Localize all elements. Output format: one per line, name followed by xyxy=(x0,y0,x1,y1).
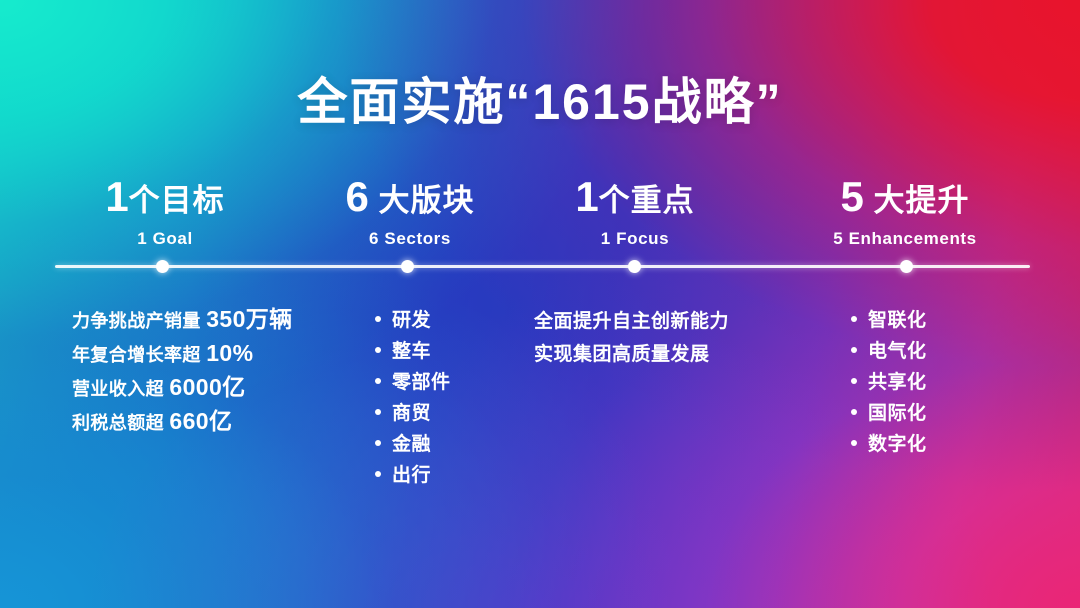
timeline-divider xyxy=(55,265,1030,268)
column-header-2: 6 大版块 6 Sectors xyxy=(290,176,530,249)
list-item: 数字化 xyxy=(851,427,927,458)
page-title: 全面实施“1615战略” xyxy=(0,62,1080,134)
column-header-2-en: 6 Sectors xyxy=(290,229,530,249)
column-header-3-number: 1 xyxy=(575,173,598,220)
column-header-1-cn: 1个目标 xyxy=(40,176,290,218)
timeline-node-2 xyxy=(401,260,414,273)
column-header-3-cn: 1个重点 xyxy=(530,176,740,218)
bullet-icon xyxy=(851,378,857,384)
metric-value: 6000亿 xyxy=(169,374,245,400)
column-header-2-cn: 6 大版块 xyxy=(290,176,530,218)
list-item-label: 金融 xyxy=(392,429,431,456)
column-header-1-number: 1 xyxy=(105,173,128,220)
list-item: 共享化 xyxy=(851,365,927,396)
column-body-3: 全面提升自主创新能力 实现集团高质量发展 xyxy=(534,305,729,371)
timeline-node-3 xyxy=(628,260,641,273)
column-header-4-number: 5 xyxy=(841,173,864,220)
bullet-icon xyxy=(851,440,857,446)
list-item-label: 共享化 xyxy=(868,367,927,394)
column-header-4-suffix: 大提升 xyxy=(864,183,970,218)
column-header-2-number: 6 xyxy=(346,173,369,220)
bullet-icon xyxy=(375,471,381,477)
metric-line: 利税总额超 660亿 xyxy=(72,405,293,439)
list-item-label: 数字化 xyxy=(868,429,927,456)
column-header-3-en: 1 Focus xyxy=(530,229,740,249)
metric-value: 10% xyxy=(206,340,253,366)
timeline-node-4 xyxy=(900,260,913,273)
list-item-label: 商贸 xyxy=(392,398,431,425)
bullet-icon xyxy=(375,409,381,415)
slide-content: 全面实施“1615战略” 1个目标 1 Goal 6 大版块 6 Sectors… xyxy=(0,0,1080,608)
list-item-label: 国际化 xyxy=(868,398,927,425)
metric-label: 营业收入超 xyxy=(72,379,169,399)
bullet-icon xyxy=(851,409,857,415)
column-header-4-en: 5 Enhancements xyxy=(760,229,1050,249)
metric-line: 年复合增长率超 10% xyxy=(72,337,293,371)
list-item: 零部件 xyxy=(375,365,451,396)
list-item-label: 整车 xyxy=(392,336,431,363)
list-item: 商贸 xyxy=(375,396,451,427)
metric-label: 力争挑战产销量 xyxy=(72,311,206,331)
list-item: 整车 xyxy=(375,334,451,365)
list-item: 研发 xyxy=(375,303,451,334)
column-header-3-suffix: 个重点 xyxy=(599,183,695,218)
timeline-node-1 xyxy=(156,260,169,273)
bullet-icon xyxy=(375,378,381,384)
focus-line: 全面提升自主创新能力 xyxy=(534,305,729,338)
list-item: 智联化 xyxy=(851,303,927,334)
bullet-icon xyxy=(851,316,857,322)
list-item: 国际化 xyxy=(851,396,927,427)
list-item: 金融 xyxy=(375,427,451,458)
bullet-icon xyxy=(375,440,381,446)
metric-label: 年复合增长率超 xyxy=(72,345,206,365)
metric-line: 营业收入超 6000亿 xyxy=(72,371,293,405)
column-header-1: 1个目标 1 Goal xyxy=(40,176,290,249)
list-item-label: 零部件 xyxy=(392,367,451,394)
list-item: 电气化 xyxy=(851,334,927,365)
list-item: 出行 xyxy=(375,458,451,489)
bullet-icon xyxy=(375,316,381,322)
metric-value: 350万辆 xyxy=(206,306,292,332)
bullet-icon xyxy=(375,347,381,353)
focus-line: 实现集团高质量发展 xyxy=(534,338,729,371)
list-item-label: 出行 xyxy=(392,460,431,487)
column-header-4-cn: 5 大提升 xyxy=(760,176,1050,218)
column-header-4: 5 大提升 5 Enhancements xyxy=(760,176,1050,249)
column-body-2: 研发 整车 零部件 商贸 金融 出行 xyxy=(375,303,451,489)
metric-label: 利税总额超 xyxy=(72,413,169,433)
column-header-1-suffix: 个目标 xyxy=(129,183,225,218)
list-item-label: 智联化 xyxy=(868,305,927,332)
bullet-icon xyxy=(851,347,857,353)
column-header-2-suffix: 大版块 xyxy=(369,183,475,218)
metric-value: 660亿 xyxy=(169,408,232,434)
column-body-4: 智联化 电气化 共享化 国际化 数字化 xyxy=(851,303,927,458)
column-header-1-en: 1 Goal xyxy=(40,229,290,249)
column-body-1: 力争挑战产销量 350万辆 年复合增长率超 10% 营业收入超 6000亿 利税… xyxy=(72,303,293,439)
list-item-label: 研发 xyxy=(392,305,431,332)
list-item-label: 电气化 xyxy=(868,336,927,363)
column-header-3: 1个重点 1 Focus xyxy=(530,176,740,249)
metric-line: 力争挑战产销量 350万辆 xyxy=(72,303,293,337)
